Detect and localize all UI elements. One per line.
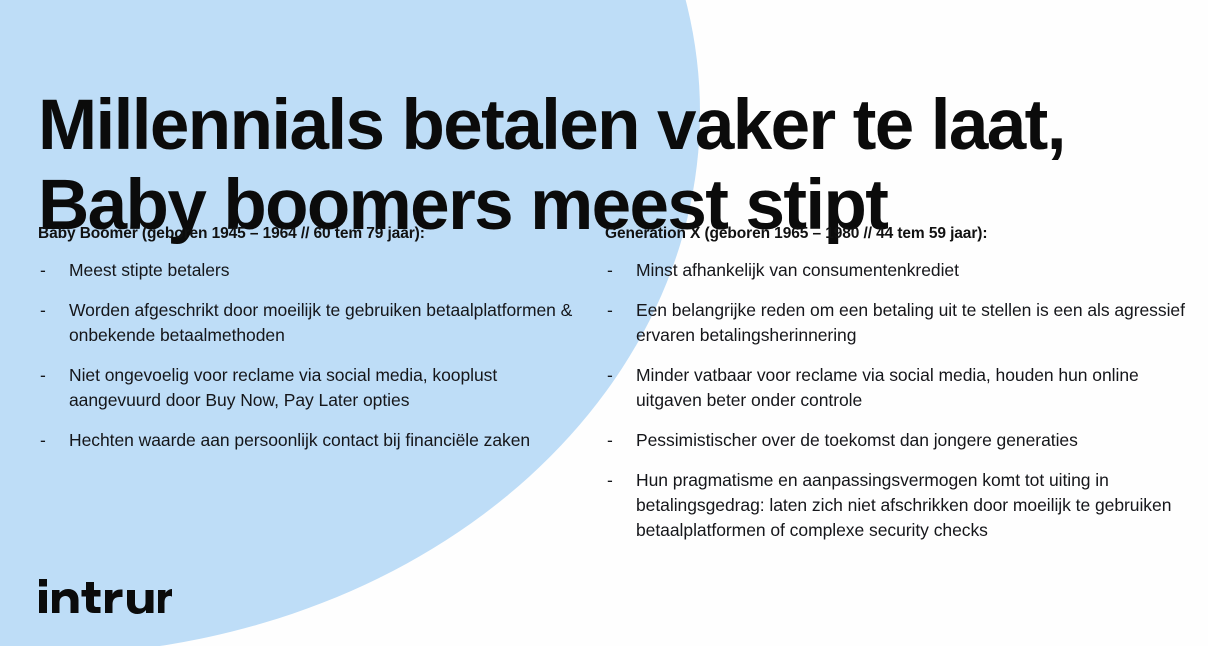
list-item: - Minst afhankelijk van consumentenkredi… xyxy=(605,258,1185,283)
list-item: - Hechten waarde aan persoonlijk contact… xyxy=(38,428,583,453)
dash-bullet-icon: - xyxy=(40,428,46,453)
column-generation-x: Generation X (geboren 1965 – 1980 // 44 … xyxy=(605,224,1185,543)
list-item: - Een belangrijke reden om een betaling … xyxy=(605,298,1185,348)
dash-bullet-icon: - xyxy=(607,428,613,453)
intrum-wordmark-icon xyxy=(38,578,172,614)
list-item-text: Minst afhankelijk van consumentenkrediet xyxy=(636,260,959,280)
list-item: - Worden afgeschrikt door moeilijk te ge… xyxy=(38,298,583,348)
list-item: - Meest stipte betalers xyxy=(38,258,583,283)
slide-title: Millennials betalen vaker te laat, Baby … xyxy=(38,86,1188,246)
list-item: - Pessimistischer over de toekomst dan j… xyxy=(605,428,1185,453)
bullet-list-generation-x: - Minst afhankelijk van consumentenkredi… xyxy=(605,258,1185,543)
dash-bullet-icon: - xyxy=(607,298,613,323)
bullet-list-baby-boomer: - Meest stipte betalers - Worden afgesch… xyxy=(38,258,583,453)
list-item: - Niet ongevoelig voor reclame via socia… xyxy=(38,363,583,413)
list-item-text: Hechten waarde aan persoonlijk contact b… xyxy=(69,430,530,450)
column-heading-baby-boomer: Baby Boomer (geboren 1945 – 1964 // 60 t… xyxy=(38,224,583,244)
slide-content: Millennials betalen vaker te laat, Baby … xyxy=(0,0,1208,646)
dash-bullet-icon: - xyxy=(607,258,613,283)
list-item-text: Minder vatbaar voor reclame via social m… xyxy=(636,365,1139,410)
dash-bullet-icon: - xyxy=(40,298,46,323)
list-item: - Minder vatbaar voor reclame via social… xyxy=(605,363,1185,413)
column-heading-generation-x: Generation X (geboren 1965 – 1980 // 44 … xyxy=(605,224,1185,244)
intrum-logo xyxy=(38,578,172,614)
list-item-text: Hun pragmatisme en aanpassingsvermogen k… xyxy=(636,470,1171,540)
slide-title-line-1: Millennials betalen vaker te laat, xyxy=(38,86,1188,166)
list-item-text: Een belangrijke reden om een betaling ui… xyxy=(636,300,1185,345)
list-item-text: Niet ongevoelig voor reclame via social … xyxy=(69,365,497,410)
list-item-text: Worden afgeschrikt door moeilijk te gebr… xyxy=(69,300,572,345)
dash-bullet-icon: - xyxy=(40,258,46,283)
dash-bullet-icon: - xyxy=(607,363,613,388)
list-item-text: Pessimistischer over de toekomst dan jon… xyxy=(636,430,1078,450)
list-item: - Hun pragmatisme en aanpassingsvermogen… xyxy=(605,468,1185,543)
dash-bullet-icon: - xyxy=(607,468,613,493)
list-item-text: Meest stipte betalers xyxy=(69,260,229,280)
slide-canvas: Millennials betalen vaker te laat, Baby … xyxy=(0,0,1208,646)
dash-bullet-icon: - xyxy=(40,363,46,388)
column-baby-boomer: Baby Boomer (geboren 1945 – 1964 // 60 t… xyxy=(38,224,583,453)
